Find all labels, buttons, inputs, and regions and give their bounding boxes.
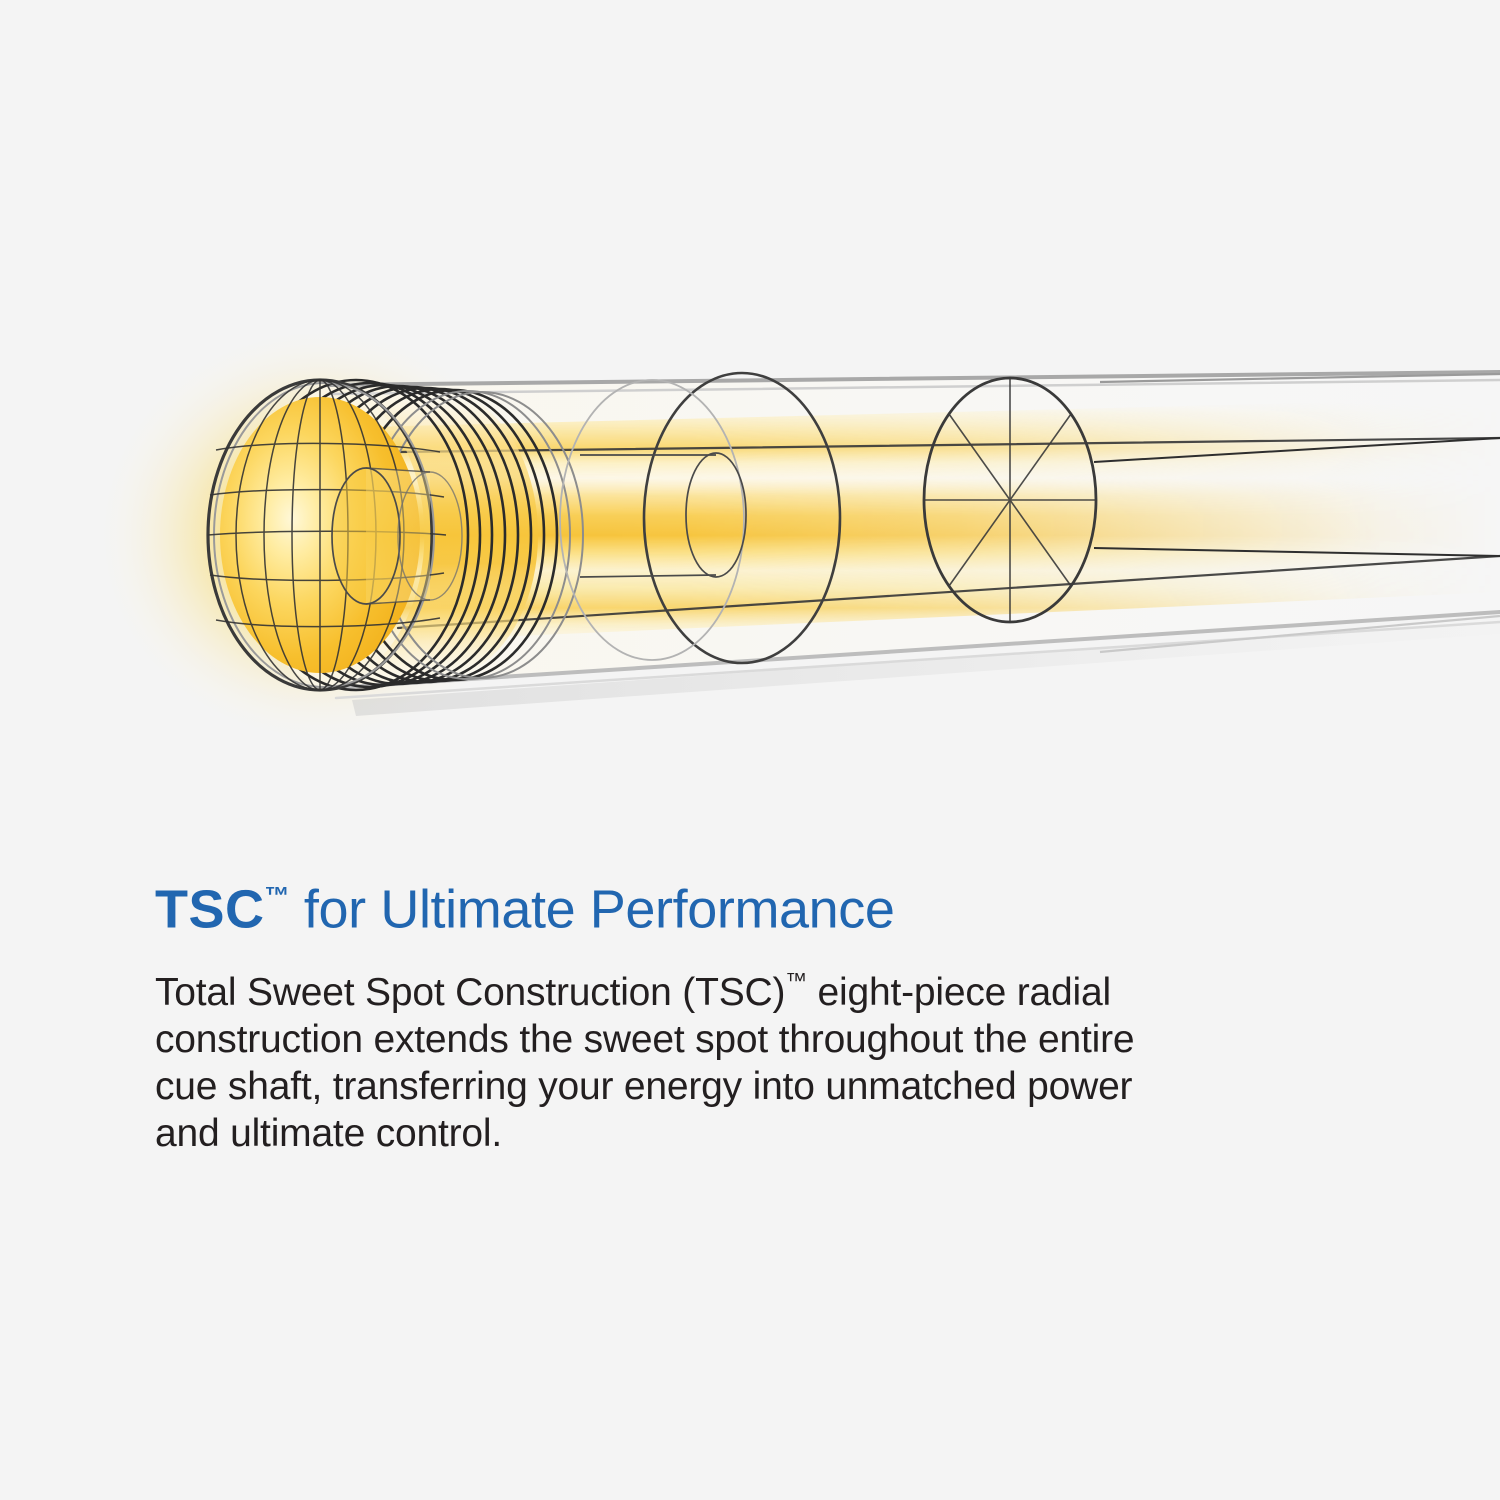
headline-trademark-icon: ™ <box>265 883 290 910</box>
caption-block: TSC™ for Ultimate Performance Total Swee… <box>155 868 1355 1157</box>
cue-shaft-illustration <box>0 0 1500 840</box>
headline-brand: TSC <box>155 880 265 940</box>
body-trademark-icon: ™ <box>785 968 807 993</box>
page-root: TSC™ for Ultimate Performance Total Swee… <box>0 0 1500 1500</box>
cue-shaft-svg <box>0 0 1500 840</box>
page-title: TSC™ for Ultimate Performance <box>155 868 1355 939</box>
headline-tail: for Ultimate Performance <box>289 880 894 940</box>
body-before-mark: Total Sweet Spot Construction (TSC) <box>155 971 785 1014</box>
body-paragraph: Total Sweet Spot Construction (TSC)™ eig… <box>155 957 1195 1157</box>
